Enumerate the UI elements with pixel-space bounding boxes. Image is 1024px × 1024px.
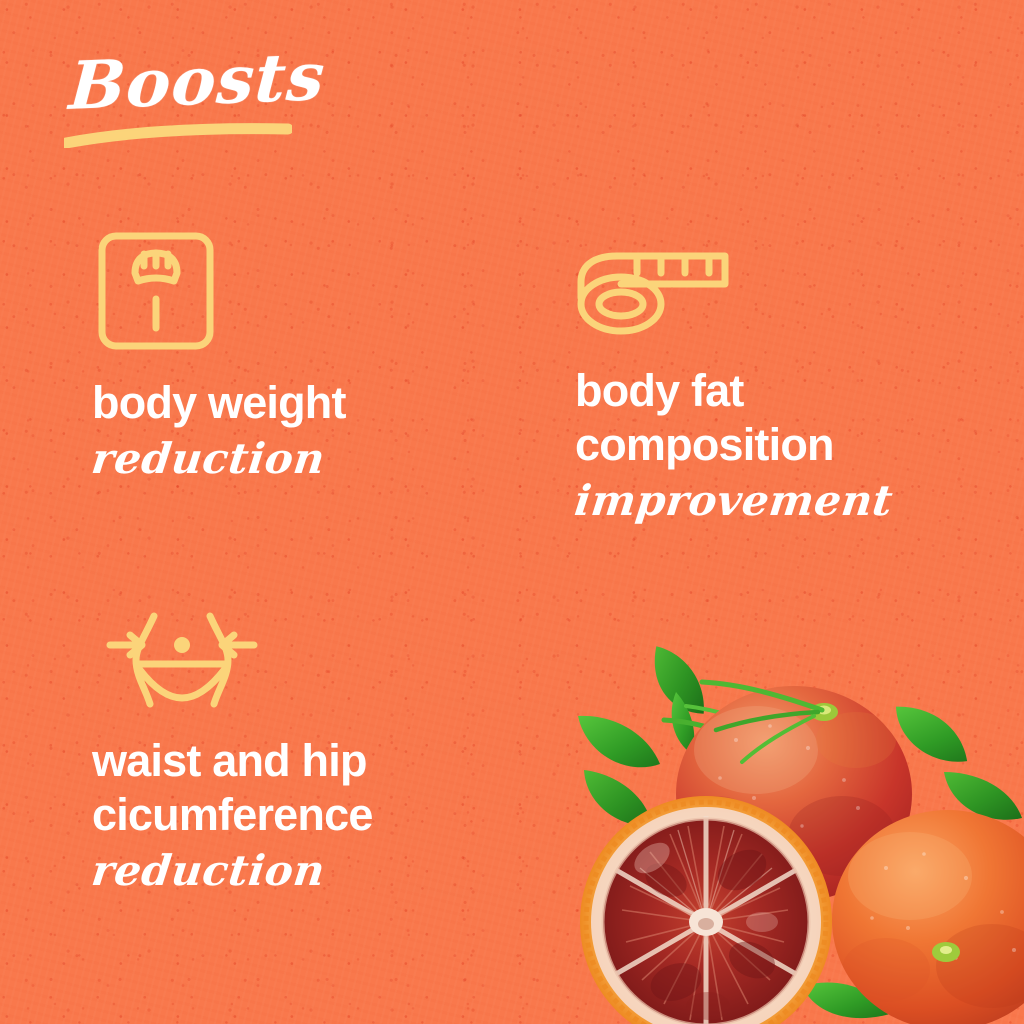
title-group: Boosts xyxy=(70,48,325,114)
benefit-waist-hip: waist and hip cicumference reduction xyxy=(92,612,373,896)
slim-waist-icon xyxy=(92,612,272,708)
benefit-body-weight: body weight reduction xyxy=(92,228,346,484)
benefit-script-line: improvement xyxy=(572,476,896,526)
benefit-script-line: reduction xyxy=(89,846,328,896)
benefit-bold-line: cicumference xyxy=(92,788,373,842)
benefit-bold-line: composition xyxy=(575,418,893,472)
blood-oranges-photo xyxy=(556,630,1024,1024)
whole-orange-right xyxy=(832,810,1024,1024)
bathroom-scale-icon xyxy=(92,228,220,354)
leaf-cluster-left xyxy=(578,642,770,826)
poster-canvas: Boosts body weight reduction xyxy=(0,0,1024,1024)
benefit-script-line: reduction xyxy=(89,434,328,484)
whole-blood-orange-top xyxy=(670,682,912,902)
page-title: Boosts xyxy=(67,43,327,119)
benefit-bold-line: body weight xyxy=(92,376,346,430)
benefit-bold-line: waist and hip xyxy=(92,734,373,788)
benefit-text-body-weight: body weight reduction xyxy=(92,376,346,484)
benefit-text-body-fat: body fat composition improvement xyxy=(575,364,893,526)
benefit-body-fat: body fat composition improvement xyxy=(575,246,893,526)
leaf-cluster-right xyxy=(802,706,1022,1019)
title-underline-swoosh xyxy=(64,122,292,148)
benefit-text-waist-hip: waist and hip cicumference reduction xyxy=(92,734,373,896)
tape-measure-icon xyxy=(575,246,741,338)
halved-blood-orange xyxy=(580,796,832,1024)
benefit-bold-line: body fat xyxy=(575,364,893,418)
